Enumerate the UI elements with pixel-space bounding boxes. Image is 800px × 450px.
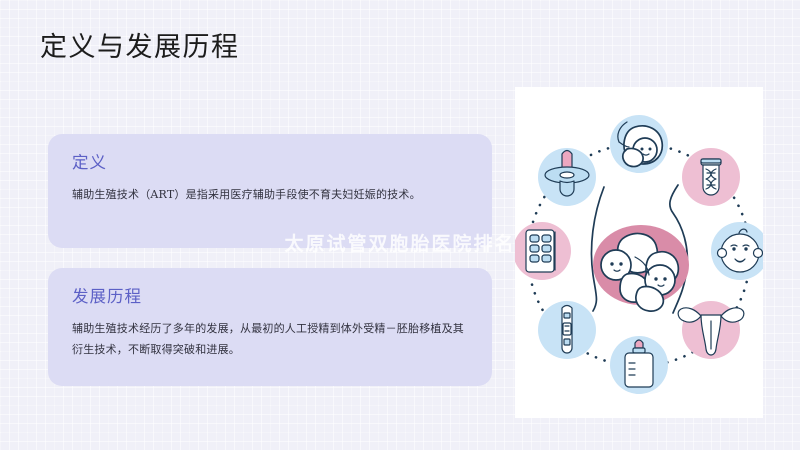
page-title: 定义与发展历程	[40, 31, 240, 65]
womb-with-twins	[593, 225, 689, 311]
slide-canvas: 定义与发展历程 定义 辅助生殖技术（ART）是指采用医疗辅助手段使不育夫妇妊娠的…	[0, 0, 800, 450]
card-history-heading: 发展历程	[72, 286, 468, 308]
pregnancy-test-icon	[538, 301, 596, 359]
illustration-panel: .ln { fill:none; stroke:#1f3c56; stroke-…	[515, 87, 763, 418]
fetus-icon	[610, 115, 668, 173]
card-definition-heading: 定义	[72, 152, 468, 174]
dna-test-tube-icon	[682, 148, 740, 206]
fertility-illustration: .ln { fill:none; stroke:#1f3c56; stroke-…	[515, 87, 763, 418]
card-history-body: 辅助生殖技术经历了多年的发展，从最初的人工授精到体外受精－胚胎移植及其衍生技术，…	[72, 318, 468, 360]
baby-face-icon	[711, 222, 763, 280]
pacifier-icon	[538, 148, 596, 206]
pill-pack-icon	[515, 222, 571, 280]
card-definition: 定义 辅助生殖技术（ART）是指采用医疗辅助手段使不育夫妇妊娠的技术。	[48, 134, 492, 248]
baby-bottle-icon	[610, 336, 668, 394]
card-history: 发展历程 辅助生殖技术经历了多年的发展，从最初的人工授精到体外受精－胚胎移植及其…	[48, 268, 492, 386]
card-definition-body: 辅助生殖技术（ART）是指采用医疗辅助手段使不育夫妇妊娠的技术。	[72, 184, 468, 205]
uterus-icon	[678, 301, 744, 359]
